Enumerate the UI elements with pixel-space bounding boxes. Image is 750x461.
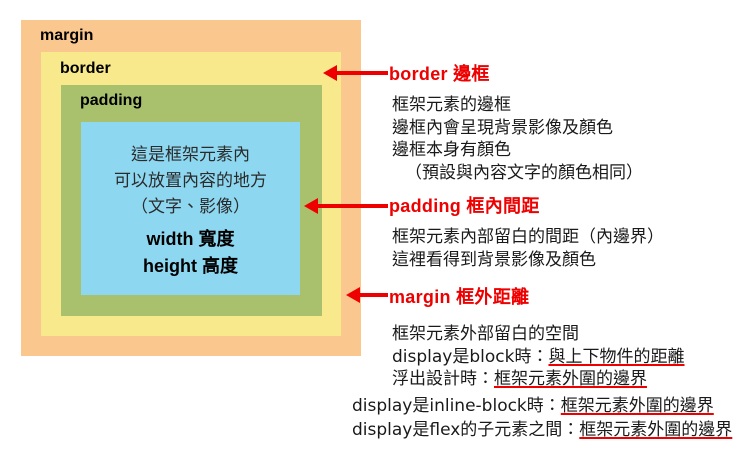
- arrow-left-icon-margin: [359, 293, 388, 297]
- annotation-margin-heading: margin 框外距離: [389, 283, 684, 309]
- annotation-margin-rule-1: display是block時：與上下物件的距離: [392, 346, 684, 369]
- content-box-dimensions: width 寬度 height 高度: [81, 226, 300, 280]
- margin-box: margin border padding 這是框架元素內 可以放置內容的地方 …: [21, 20, 361, 356]
- annotation-border-line-2: 邊框內會呈現背景影像及顏色: [392, 117, 643, 140]
- annotation-margin-rule-2-prefix: 浮出設計時：: [392, 369, 494, 389]
- annotation-padding-body: 框架元素內部留白的間距（內邊界） 這裡看得到背景影像及顏色: [392, 226, 664, 271]
- content-line-1: 這是框架元素內: [81, 142, 300, 168]
- annotation-margin-rule-1-prefix: display是block時：: [392, 347, 548, 367]
- box-model-diagram: margin border padding 這是框架元素內 可以放置內容的地方 …: [0, 0, 750, 461]
- extra-rule-2: display是flex的子元素之間：框架元素外圍的邊界: [352, 418, 732, 442]
- padding-box: padding 這是框架元素內 可以放置內容的地方 （文字、影像） width …: [61, 85, 322, 316]
- annotation-margin-rule-2-underlined: 框架元素外圍的邊界: [494, 369, 647, 389]
- extra-rule-1: display是inline-block時：框架元素外圍的邊界: [352, 394, 732, 418]
- annotation-margin-rule-2: 浮出設計時：框架元素外圍的邊界: [392, 368, 684, 391]
- annotation-padding-line-1: 框架元素內部留白的間距（內邊界）: [392, 226, 664, 249]
- annotation-margin-body: 框架元素外部留白的空間 display是block時：與上下物件的距離 浮出設計…: [392, 323, 684, 391]
- content-width-label: width 寬度: [81, 226, 300, 253]
- annotation-padding-line-2: 這裡看得到背景影像及顏色: [392, 249, 664, 272]
- annotation-margin-rule-1-underlined: 與上下物件的距離: [548, 347, 684, 367]
- annotation-border-body: 框架元素的邊框 邊框內會呈現背景影像及顏色 邊框本身有顏色 （預設與內容文字的顏…: [392, 94, 643, 184]
- border-box: border padding 這是框架元素內 可以放置內容的地方 （文字、影像）…: [41, 52, 341, 336]
- content-line-2: 可以放置內容的地方: [81, 168, 300, 194]
- extra-rule-2-underlined: 框架元素外圍的邊界: [579, 420, 732, 440]
- annotation-margin-line-1: 框架元素外部留白的空間: [392, 323, 684, 346]
- content-height-label: height 高度: [81, 253, 300, 280]
- content-box: 這是框架元素內 可以放置內容的地方 （文字、影像） width 寬度 heigh…: [81, 122, 300, 295]
- annotation-border-heading: border 邊框: [389, 60, 643, 86]
- annotation-border-line-4: （預設與內容文字的顏色相同）: [392, 162, 643, 185]
- arrow-left-icon-border: [336, 71, 388, 75]
- annotation-border-line-3: 邊框本身有顏色: [392, 139, 643, 162]
- extra-rule-2-prefix: display是flex的子元素之間：: [352, 420, 579, 440]
- extra-rule-1-prefix: display是inline-block時：: [352, 396, 561, 416]
- annotation-padding-heading: padding 框內間距: [389, 192, 664, 218]
- padding-box-label: padding: [80, 92, 142, 110]
- arrow-left-icon-padding: [317, 204, 388, 208]
- annotation-margin: margin 框外距離 框架元素外部留白的空間 display是block時：與…: [389, 283, 684, 391]
- extra-display-rules: display是inline-block時：框架元素外圍的邊界 display是…: [352, 394, 732, 442]
- extra-rule-1-underlined: 框架元素外圍的邊界: [561, 396, 714, 416]
- annotation-border-line-1: 框架元素的邊框: [392, 94, 643, 117]
- margin-box-label: margin: [40, 27, 93, 45]
- annotation-padding: padding 框內間距 框架元素內部留白的間距（內邊界） 這裡看得到背景影像及…: [389, 192, 664, 271]
- border-box-label: border: [60, 60, 111, 78]
- content-line-3: （文字、影像）: [81, 194, 300, 220]
- content-box-description: 這是框架元素內 可以放置內容的地方 （文字、影像）: [81, 142, 300, 220]
- annotation-border: border 邊框 框架元素的邊框 邊框內會呈現背景影像及顏色 邊框本身有顏色 …: [389, 60, 643, 184]
